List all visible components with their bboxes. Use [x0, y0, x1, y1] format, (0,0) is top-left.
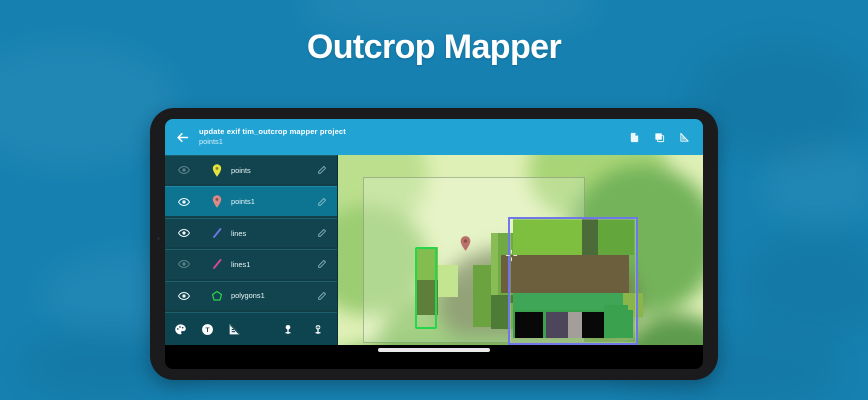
layer-name: points	[231, 166, 313, 175]
map-canvas[interactable]	[338, 155, 703, 345]
project-title: update exif tim_outcrop mapper project	[199, 128, 628, 136]
layer-row-polygons1[interactable]: polygons1	[165, 281, 337, 312]
polygon-symbol-icon	[207, 290, 227, 302]
layers-icon[interactable]	[653, 131, 666, 144]
pencil-icon[interactable]	[313, 291, 331, 301]
layer-name: polygons1	[231, 291, 313, 300]
ruler-icon[interactable]	[678, 131, 691, 144]
add-point-gps-icon[interactable]	[311, 322, 325, 336]
layer-row-lines[interactable]: lines	[165, 218, 337, 249]
phone-mockup: update exif tim_outcrop mapper project p…	[150, 108, 718, 380]
pencil-icon[interactable]	[313, 259, 331, 269]
file-icon[interactable]	[628, 131, 641, 144]
selection-rectangle[interactable]	[508, 217, 638, 345]
svg-text:T: T	[205, 326, 209, 333]
eye-icon[interactable]	[171, 258, 197, 270]
point-symbol-icon	[207, 195, 227, 208]
layer-sidebar: points	[165, 155, 338, 345]
layer-name: lines	[231, 229, 313, 238]
toolbar-left-group: T	[173, 322, 241, 336]
app-bar-titles: update exif tim_outcrop mapper project p…	[199, 128, 628, 146]
layer-row-points1[interactable]: points1	[165, 186, 337, 217]
eye-icon[interactable]	[171, 227, 197, 239]
palette-icon[interactable]	[173, 322, 187, 336]
bottom-toolbar: T	[165, 312, 337, 345]
highlighted-polygon[interactable]	[415, 247, 437, 329]
pencil-icon[interactable]	[313, 197, 331, 207]
layer-name: points1	[231, 197, 313, 206]
project-subtitle: points1	[199, 138, 628, 146]
crosshair-icon	[504, 248, 519, 268]
toolbar-right-group	[281, 322, 329, 336]
screenshot-root: Outcrop Mapper update exif tim_outcrop m…	[0, 0, 868, 400]
phone-sensor-dot	[156, 236, 161, 241]
line-symbol-icon	[207, 227, 227, 239]
map-pin-marker[interactable]	[460, 236, 471, 256]
add-point-icon[interactable]	[281, 322, 295, 336]
phone-screen-frame: update exif tim_outcrop mapper project p…	[165, 119, 703, 369]
app-bar: update exif tim_outcrop mapper project p…	[165, 119, 703, 155]
eye-icon[interactable]	[171, 290, 197, 302]
text-tool-icon[interactable]: T	[200, 322, 214, 336]
eye-icon[interactable]	[171, 196, 197, 208]
eye-icon[interactable]	[171, 164, 197, 176]
layer-row-points[interactable]: points	[165, 155, 337, 186]
home-indicator[interactable]	[378, 348, 490, 352]
app-screen: update exif tim_outcrop mapper project p…	[165, 119, 703, 357]
line-symbol-icon	[207, 258, 227, 270]
app-body: points	[165, 155, 703, 345]
layer-name: lines1	[231, 260, 313, 269]
point-symbol-icon	[207, 164, 227, 177]
app-bar-actions	[628, 131, 695, 144]
back-arrow-icon[interactable]	[171, 126, 193, 148]
pencil-icon[interactable]	[313, 228, 331, 238]
map-features	[338, 155, 703, 345]
layer-row-lines1[interactable]: lines1	[165, 249, 337, 280]
home-indicator-area	[165, 345, 703, 357]
page-title: Outcrop Mapper	[0, 28, 868, 67]
ruler-tool-icon[interactable]	[227, 322, 241, 336]
pencil-icon[interactable]	[313, 165, 331, 175]
layer-list: points	[165, 155, 337, 312]
